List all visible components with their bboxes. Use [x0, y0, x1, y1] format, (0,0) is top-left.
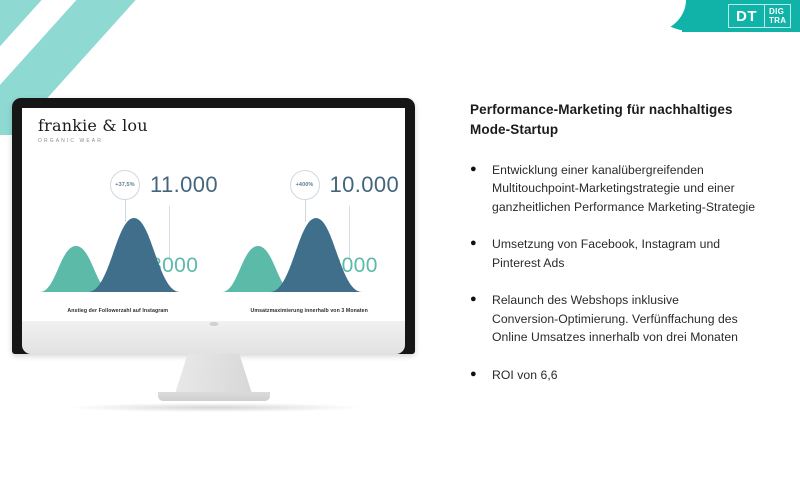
chart-badge-2: +400% — [290, 170, 320, 200]
chart-badge-stem-1 — [125, 200, 126, 222]
frankie-lou-logo: frankie & lou ORGANIC WEAR — [38, 118, 148, 144]
list-item: ● Entwicklung einer kanalübergreifenden … — [470, 161, 800, 217]
imac-mockup: frankie & lou ORGANIC WEAR +37,5% 11.000… — [12, 98, 415, 412]
imac-stand-foot — [158, 392, 270, 401]
imac-stand-neck — [176, 354, 252, 392]
brand-banner: DT DIG TRA — [682, 0, 800, 32]
imac-shadow — [69, 403, 359, 412]
bullet-text: Entwicklung einer kanalübergreifenden Mu… — [492, 161, 755, 217]
imac-bezel: frankie & lou ORGANIC WEAR +37,5% 11.000… — [12, 98, 415, 354]
infographic-slide: frankie & lou ORGANIC WEAR +37,5% 11.000… — [22, 108, 405, 321]
brand-logo-word-2: TRA — [769, 16, 786, 25]
bullet-marker-icon: ● — [470, 291, 492, 347]
bullet-text: ROI von 6,6 — [492, 366, 558, 385]
chart-big-value-1: 11.000 — [150, 172, 218, 198]
chart-badge-stem-2 — [305, 200, 306, 222]
frankie-lou-name: frankie & lou — [38, 118, 148, 134]
chart-curves-2 — [222, 206, 406, 292]
page-title: Performance-Marketing für nachhaltiges M… — [470, 100, 800, 141]
imac-chin — [22, 321, 405, 354]
brand-logo-initials: DT — [729, 5, 764, 27]
list-item: ● Umsetzung von Facebook, Instagram und … — [470, 235, 800, 272]
imac-screen: frankie & lou ORGANIC WEAR +37,5% 11.000… — [22, 108, 405, 321]
brand-logo-word-1: DIG — [769, 7, 786, 16]
slide-page: DT DIG TRA frankie & lou ORGANIC WEAR — [0, 0, 800, 480]
brand-logo-words: DIG TRA — [765, 5, 790, 27]
bullet-text: Relaunch des Webshops inklusive Conversi… — [492, 291, 738, 347]
chart-big-value-2: 10.000 — [330, 172, 400, 198]
chart-row: +37,5% 11.000 8000 Anstieg der Followerz… — [22, 166, 405, 316]
bullet-marker-icon: ● — [470, 366, 492, 385]
bullet-text: Umsetzung von Facebook, Instagram und Pi… — [492, 235, 720, 272]
bullet-list: ● Entwicklung einer kanalübergreifenden … — [470, 161, 800, 385]
list-item: ● ROI von 6,6 — [470, 366, 800, 385]
frankie-lou-tagline: ORGANIC WEAR — [38, 138, 148, 144]
brand-logo: DT DIG TRA — [728, 4, 791, 28]
chart-panel-revenue: +400% 10.000 2000 Umsatzmaximierung inne… — [214, 166, 406, 316]
chart-badge-1: +37,5% — [110, 170, 140, 200]
chart-caption-2: Umsatzmaximierung innerhalb von 3 Monate… — [214, 308, 406, 314]
list-item: ● Relaunch des Webshops inklusive Conver… — [470, 291, 800, 347]
bullet-marker-icon: ● — [470, 235, 492, 272]
text-column: Performance-Marketing für nachhaltiges M… — [470, 100, 800, 403]
chart-caption-1: Anstieg der Followerzahl auf Instagram — [22, 308, 214, 314]
bullet-marker-icon: ● — [470, 161, 492, 217]
chart-panel-followers: +37,5% 11.000 8000 Anstieg der Followerz… — [22, 166, 214, 316]
